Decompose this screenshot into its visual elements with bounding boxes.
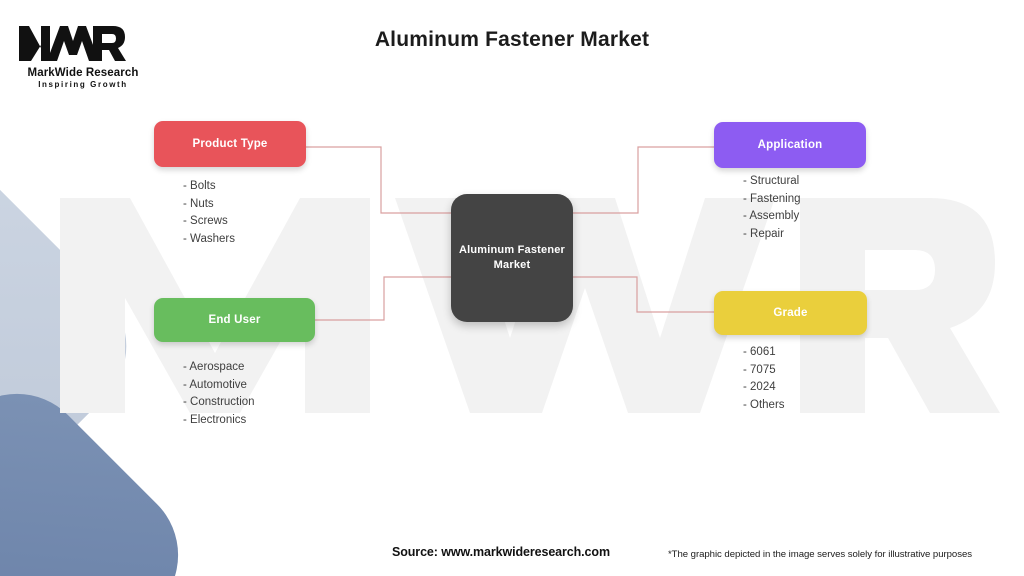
list-item: - Aerospace [183,359,255,377]
connector-application [572,147,714,213]
branch-node-end-user[interactable]: End User [154,298,315,342]
list-item: - 2024 [743,379,785,397]
branch-node-application[interactable]: Application [714,122,866,168]
branch-items-product-type: - Bolts - Nuts - Screws - Washers [183,178,235,248]
list-item: - Structural [743,173,801,191]
connector-product-type [306,147,452,213]
decorative-shape-light [0,134,156,558]
page-title: Aluminum Fastener Market [0,28,1024,52]
list-item: - Repair [743,226,801,244]
branch-items-end-user: - Aerospace - Automotive - Construction … [183,359,255,429]
brand-tagline: Inspiring Growth [18,80,148,89]
brand-name: MarkWide Research [18,67,148,79]
list-item: - 7075 [743,362,785,380]
branch-items-grade: - 6061 - 7075 - 2024 - Others [743,344,785,414]
list-item: - Washers [183,231,235,249]
list-item: - Fastening [743,191,801,209]
list-item: - Others [743,397,785,415]
branch-label-end-user: End User [208,314,260,326]
branch-label-application: Application [758,139,823,151]
list-item: - Construction [183,394,255,412]
footer-source: Source: www.markwideresearch.com [392,545,610,559]
list-item: - 6061 [743,344,785,362]
connector-grade [572,277,714,312]
branch-label-grade: Grade [773,307,807,319]
connector-end-user [315,277,452,320]
list-item: - Bolts [183,178,235,196]
center-node-label-line2: Market [494,258,531,273]
branch-items-application: - Structural - Fastening - Assembly - Re… [743,173,801,243]
list-item: - Automotive [183,377,255,395]
branch-node-grade[interactable]: Grade [714,291,867,335]
list-item: - Screws [183,213,235,231]
list-item: - Electronics [183,412,255,430]
center-node-label-line1: Aluminum Fastener [459,243,565,258]
list-item: - Nuts [183,196,235,214]
footer-disclaimer: *The graphic depicted in the image serve… [668,549,972,560]
center-node[interactable]: Aluminum Fastener Market [451,194,573,322]
list-item: - Assembly [743,208,801,226]
slide-canvas: MarkWide Research Inspiring Growth Alumi… [0,0,1024,576]
decorative-shape-dark [0,364,208,576]
branch-label-product-type: Product Type [192,138,267,150]
branch-node-product-type[interactable]: Product Type [154,121,306,167]
